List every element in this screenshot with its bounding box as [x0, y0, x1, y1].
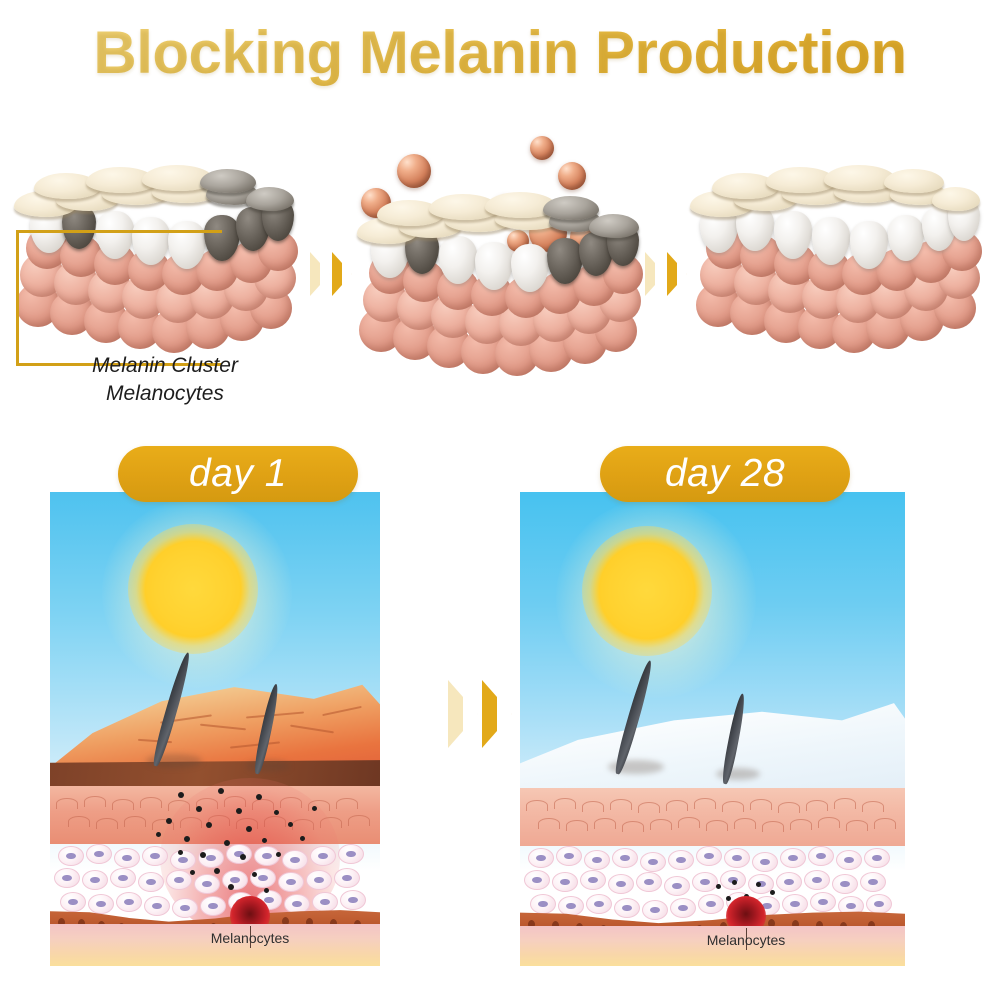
sun-icon — [128, 524, 258, 654]
sun-icon — [582, 526, 712, 656]
skin-surface-clear — [520, 688, 905, 796]
callout-line-1: Melanin Cluster — [92, 354, 238, 377]
stage-arrow-2-icon — [645, 252, 687, 296]
stage-3-clear-skin-result — [690, 165, 980, 385]
melanocyte-label: Melanocytes — [190, 930, 310, 946]
copper-particle — [530, 136, 554, 160]
melanocyte-label: Melanocytes — [686, 932, 806, 948]
melanin-cluster-callout: Melanin ClusterMelanocytes — [40, 352, 290, 407]
stage-3-artwork — [690, 165, 980, 385]
infographic-page: Blocking Melanin Production — [0, 0, 1000, 1000]
stage-2-copper-particles-blocking — [355, 132, 655, 392]
callout-line-2: Melanocytes — [106, 382, 224, 405]
stage-diagram: Melanin ClusterMelanocytes — [0, 120, 1000, 420]
copper-particle — [558, 162, 586, 190]
badge-day-28: day 28 — [600, 446, 850, 502]
badge-day-28-label: day 28 — [665, 452, 785, 496]
page-title: Blocking Melanin Production — [0, 18, 1000, 87]
stage-arrow-1-icon — [310, 252, 352, 296]
badge-day-1: day 1 — [118, 446, 358, 502]
copper-particle — [397, 154, 431, 188]
badge-day-1-label: day 1 — [189, 452, 287, 496]
spinous-layer — [520, 842, 905, 924]
stratum-corneum — [520, 788, 905, 846]
comparison-arrow-icon — [448, 680, 512, 748]
spinous-layer — [50, 840, 380, 920]
panel-day-1: Melanocytes — [50, 492, 380, 966]
stage-2-artwork — [355, 132, 655, 392]
panel-day-28: Melanocytes — [520, 492, 905, 966]
melanin-cluster-bracket — [16, 230, 222, 366]
